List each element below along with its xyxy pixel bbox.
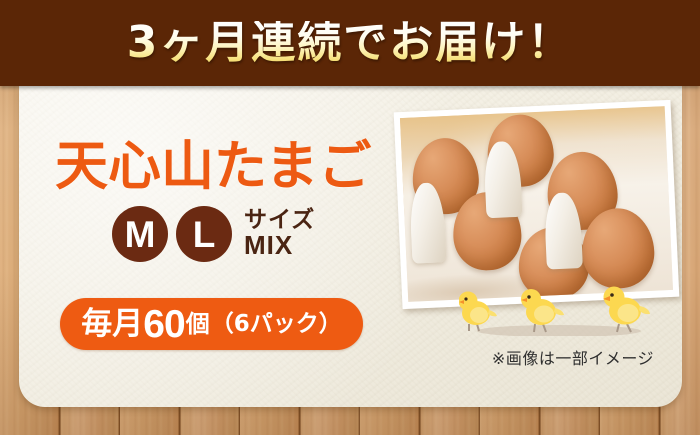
size-label-mix: MIX	[244, 232, 315, 259]
egg-photo-frame	[394, 100, 680, 309]
chicks-illustration	[459, 284, 659, 336]
header-title: 3ヶ月連続でお届け！	[127, 21, 574, 65]
quantity-number: 60	[143, 305, 184, 344]
chick-group	[459, 284, 659, 336]
chick-3-head	[604, 287, 625, 308]
chick-1	[459, 292, 497, 332]
egg-photo	[400, 106, 673, 302]
size-badge-group: M L サイズ MIX	[112, 206, 315, 262]
quantity-suffix: （6パック）	[211, 313, 342, 336]
size-badge-m: M	[112, 206, 168, 262]
chick-1-wing	[470, 307, 488, 323]
quantity-unit: 個	[186, 312, 210, 336]
chick-2-leg-a	[534, 324, 535, 332]
chick-2-wing	[534, 306, 554, 323]
chick-2-eye	[527, 295, 530, 298]
quantity-badge: 毎月 60 個 （6パック）	[60, 298, 363, 350]
product-card: 天心山たまご M L サイズ MIX 毎月 60 個 （6パック） ※画像は	[19, 86, 682, 407]
size-mix-label: サイズ MIX	[244, 209, 315, 260]
image-disclaimer-note: ※画像は一部イメージ	[492, 345, 654, 369]
brand-name: 天心山たまご	[55, 140, 371, 193]
quantity-prefix: 毎月	[81, 309, 143, 340]
chick-1-eye	[464, 297, 467, 300]
chick-3	[603, 287, 650, 333]
size-badge-l: L	[176, 206, 232, 262]
size-label-kana: サイズ	[244, 209, 315, 233]
header-banner: 3ヶ月連続でお届け！	[0, 0, 700, 86]
chick-3-wing	[618, 304, 639, 322]
chick-1-leg-b	[477, 324, 479, 331]
chick-3-eye	[610, 293, 614, 297]
